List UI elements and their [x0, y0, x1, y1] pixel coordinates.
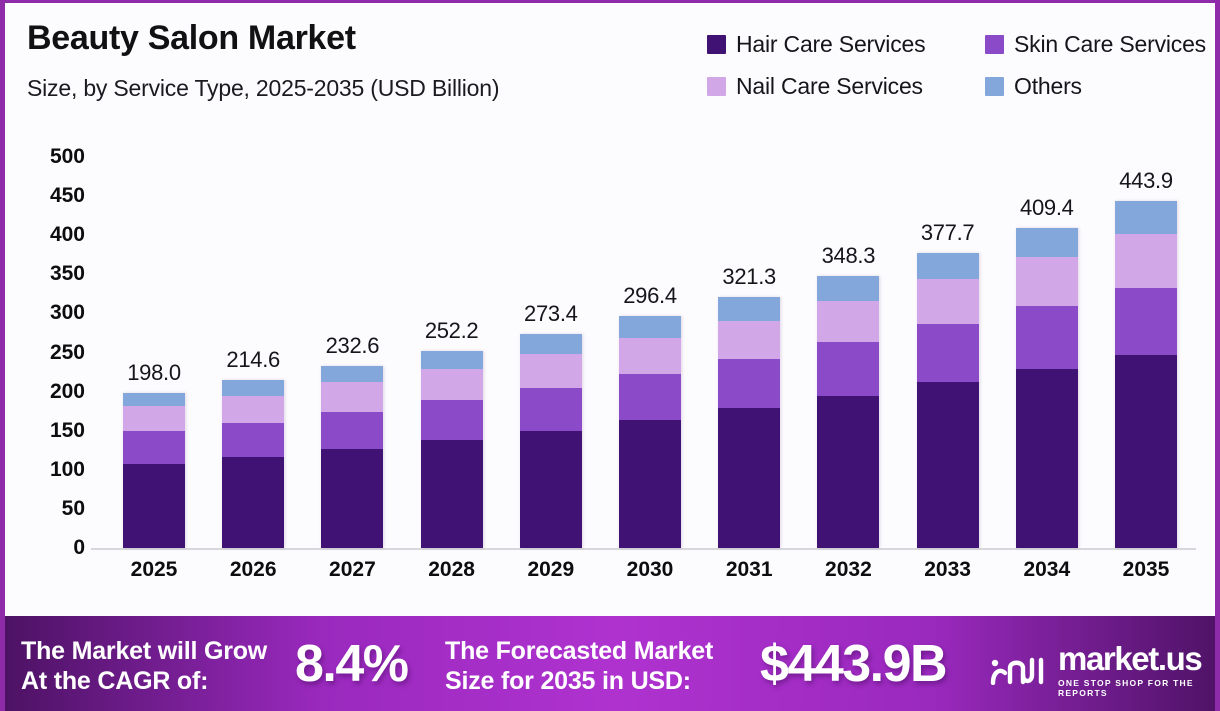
stacked-bar[interactable]: [1115, 201, 1177, 548]
bar-segment-skin-care-services[interactable]: [222, 423, 284, 457]
logo-text: market.us ONE STOP SHOP FOR THE REPORTS: [1058, 642, 1220, 698]
market-us-logo[interactable]: market.us ONE STOP SHOP FOR THE REPORTS: [990, 642, 1220, 698]
legend-swatch-icon: [707, 35, 726, 54]
legend-swatch-icon: [985, 77, 1004, 96]
x-axis-tick: 2033: [903, 558, 993, 582]
x-axis-tick: 2025: [109, 558, 199, 582]
bar-value-label: 296.4: [623, 283, 677, 309]
bar-value-label: 321.3: [722, 264, 776, 290]
legend-label: Others: [1014, 73, 1082, 100]
x-axis-tick: 2034: [1002, 558, 1092, 582]
x-axis-line: [91, 548, 1196, 550]
bar-segment-others[interactable]: [619, 316, 681, 337]
plot-area: 500450400350300250200150100500 198.0214.…: [5, 121, 1215, 606]
legend-swatch-icon: [985, 35, 1004, 54]
bar-segment-skin-care-services[interactable]: [520, 388, 582, 431]
bar-segment-skin-care-services[interactable]: [817, 342, 879, 396]
x-axis-tick: 2027: [307, 558, 397, 582]
bar-segment-skin-care-services[interactable]: [1115, 288, 1177, 354]
bar-column[interactable]: 214.6: [222, 380, 284, 548]
stacked-bar[interactable]: [520, 334, 582, 548]
legend-item-others[interactable]: Others: [985, 73, 1082, 100]
page-title: Beauty Salon Market: [27, 19, 356, 58]
legend-label: Skin Care Services: [1014, 31, 1206, 58]
bar-column[interactable]: 198.0: [123, 393, 185, 548]
bar-segment-hair-care-services[interactable]: [917, 382, 979, 548]
y-axis: 500450400350300250200150100500: [5, 121, 85, 606]
x-axis-tick: 2030: [605, 558, 695, 582]
bar-column[interactable]: 348.3: [817, 276, 879, 548]
logo-tagline: ONE STOP SHOP FOR THE REPORTS: [1058, 678, 1220, 698]
bar-value-label: 214.6: [226, 347, 280, 373]
bar-segment-hair-care-services[interactable]: [520, 431, 582, 548]
bar-segment-others[interactable]: [718, 297, 780, 321]
bar-value-label: 252.2: [425, 318, 479, 344]
bar-segment-nail-care-services[interactable]: [520, 354, 582, 388]
bar-segment-hair-care-services[interactable]: [1115, 355, 1177, 548]
x-axis-tick: 2032: [803, 558, 893, 582]
legend-row-2: Nail Care Services Others: [707, 65, 1212, 107]
chart-frame: Beauty Salon Market Size, by Service Typ…: [0, 0, 1220, 711]
stacked-bar[interactable]: [619, 316, 681, 548]
bar-column[interactable]: 296.4: [619, 316, 681, 548]
forecast-label: The Forecasted Market Size for 2035 in U…: [445, 636, 713, 696]
legend-label: Hair Care Services: [736, 31, 925, 58]
bar-column[interactable]: 252.2: [421, 351, 483, 548]
page-subtitle: Size, by Service Type, 2025-2035 (USD Bi…: [27, 75, 499, 102]
bar-segment-nail-care-services[interactable]: [421, 369, 483, 400]
bar-segment-nail-care-services[interactable]: [321, 382, 383, 412]
cagr-label: The Market will Grow At the CAGR of:: [21, 636, 267, 696]
bar-segment-others[interactable]: [1115, 201, 1177, 235]
bar-value-label: 198.0: [127, 360, 181, 386]
legend-swatch-icon: [707, 77, 726, 96]
bar-segment-nail-care-services[interactable]: [619, 338, 681, 374]
bar-segment-hair-care-services[interactable]: [321, 449, 383, 548]
bar-column[interactable]: 443.9: [1115, 201, 1177, 548]
bar-segment-skin-care-services[interactable]: [421, 400, 483, 440]
bar-segment-hair-care-services[interactable]: [817, 396, 879, 548]
x-axis: 2025202620272028202920302031203220332034…: [91, 558, 1201, 598]
bar-segment-others[interactable]: [222, 380, 284, 395]
legend-label: Nail Care Services: [736, 73, 923, 100]
bar-segment-nail-care-services[interactable]: [1016, 257, 1078, 306]
bar-column[interactable]: 273.4: [520, 334, 582, 548]
bar-column[interactable]: 232.6: [321, 366, 383, 548]
x-axis-tick: 2031: [704, 558, 794, 582]
stacked-bar[interactable]: [718, 297, 780, 548]
stacked-bar[interactable]: [321, 366, 383, 548]
bar-segment-nail-care-services[interactable]: [123, 406, 185, 431]
bar-value-label: 273.4: [524, 301, 578, 327]
legend-item-hair-care-services[interactable]: Hair Care Services: [707, 31, 985, 58]
y-axis-tick: 200: [7, 380, 85, 404]
bar-segment-nail-care-services[interactable]: [1115, 234, 1177, 288]
chart-legend: Hair Care Services Skin Care Services Na…: [707, 23, 1212, 107]
stacked-bar[interactable]: [1016, 228, 1078, 548]
bar-segment-hair-care-services[interactable]: [718, 408, 780, 548]
legend-item-skin-care-services[interactable]: Skin Care Services: [985, 31, 1206, 58]
y-axis-tick: 0: [7, 536, 85, 560]
bar-group: 198.0214.6232.6252.2273.4296.4321.3348.3…: [91, 121, 1201, 548]
footer-banner: The Market will Grow At the CAGR of: 8.4…: [5, 616, 1220, 711]
x-axis-tick: 2035: [1101, 558, 1191, 582]
y-axis-tick: 300: [7, 301, 85, 325]
bar-segment-others[interactable]: [1016, 228, 1078, 257]
legend-item-nail-care-services[interactable]: Nail Care Services: [707, 73, 985, 100]
x-axis-tick: 2029: [506, 558, 596, 582]
bar-column[interactable]: 321.3: [718, 297, 780, 548]
x-axis-tick: 2028: [407, 558, 497, 582]
bar-value-label: 377.7: [921, 220, 975, 246]
bar-segment-others[interactable]: [817, 276, 879, 301]
bar-segment-others[interactable]: [123, 393, 185, 406]
bar-value-label: 348.3: [822, 243, 876, 269]
bar-segment-hair-care-services[interactable]: [1016, 369, 1078, 548]
bar-segment-nail-care-services[interactable]: [917, 279, 979, 324]
bar-segment-nail-care-services[interactable]: [718, 321, 780, 359]
bar-segment-others[interactable]: [520, 334, 582, 354]
bar-segment-hair-care-services[interactable]: [222, 457, 284, 548]
bar-value-label: 409.4: [1020, 195, 1074, 221]
bar-value-label: 232.6: [326, 333, 380, 359]
stacked-bar[interactable]: [817, 276, 879, 548]
bar-segment-skin-care-services[interactable]: [1016, 306, 1078, 369]
y-axis-tick: 500: [7, 145, 85, 169]
bar-segment-hair-care-services[interactable]: [619, 420, 681, 548]
y-axis-tick: 150: [7, 419, 85, 443]
x-axis-tick: 2026: [208, 558, 298, 582]
y-axis-tick: 350: [7, 262, 85, 286]
stacked-bar[interactable]: [917, 253, 979, 548]
y-axis-tick: 400: [7, 223, 85, 247]
bar-segment-others[interactable]: [321, 366, 383, 382]
bar-segment-others[interactable]: [421, 351, 483, 369]
forecast-value: $443.9B: [760, 634, 946, 694]
bar-column[interactable]: 409.4: [1016, 228, 1078, 548]
stacked-bar[interactable]: [123, 393, 185, 548]
legend-row-1: Hair Care Services Skin Care Services: [707, 23, 1212, 65]
bar-segment-skin-care-services[interactable]: [718, 359, 780, 408]
y-axis-tick: 250: [7, 341, 85, 365]
bar-segment-nail-care-services[interactable]: [222, 396, 284, 423]
bar-segment-skin-care-services[interactable]: [321, 412, 383, 450]
stacked-bar[interactable]: [421, 351, 483, 548]
bar-segment-others[interactable]: [917, 253, 979, 279]
bar-segment-hair-care-services[interactable]: [123, 464, 185, 548]
cagr-value: 8.4%: [295, 634, 408, 694]
y-axis-tick: 50: [7, 497, 85, 521]
market-us-mark-icon: [990, 651, 1048, 690]
bar-segment-skin-care-services[interactable]: [917, 324, 979, 382]
logo-name: market.us: [1058, 642, 1220, 675]
bar-column[interactable]: 377.7: [917, 253, 979, 548]
bar-segment-skin-care-services[interactable]: [619, 374, 681, 420]
stacked-bar[interactable]: [222, 380, 284, 548]
y-axis-tick: 450: [7, 184, 85, 208]
bar-segment-hair-care-services[interactable]: [421, 440, 483, 548]
y-axis-tick: 100: [7, 458, 85, 482]
bar-segment-nail-care-services[interactable]: [817, 301, 879, 342]
bar-value-label: 443.9: [1119, 168, 1173, 194]
bar-segment-skin-care-services[interactable]: [123, 431, 185, 464]
